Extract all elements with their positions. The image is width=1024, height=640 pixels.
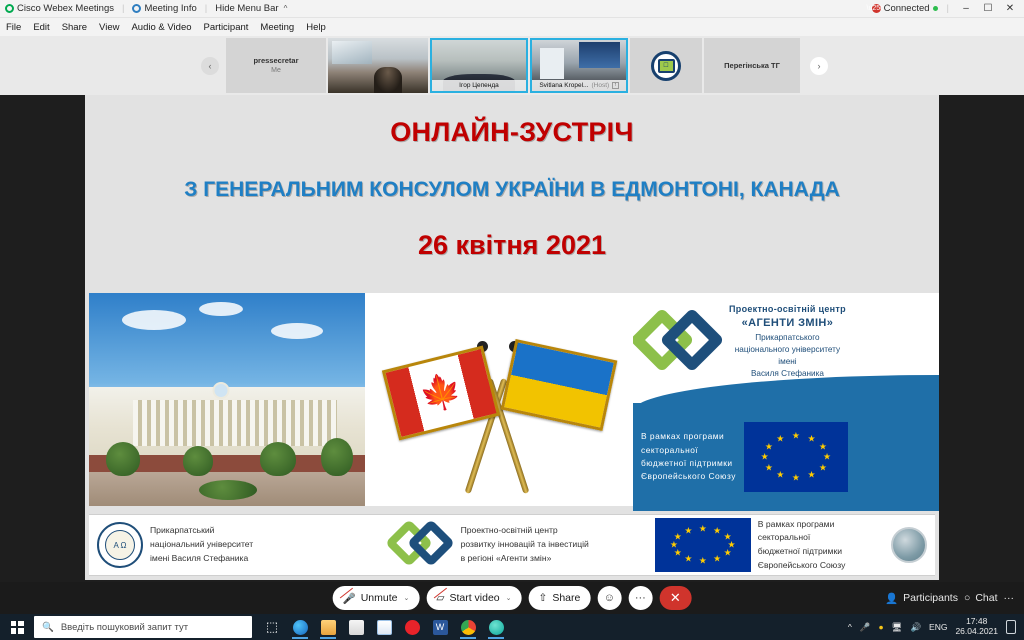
eu-flag-icon: ★★★★★★★★★★★★: [655, 518, 751, 572]
participant-name-bar: Ігор Цепенда: [432, 80, 526, 91]
slide-title-line-1: ОНЛАЙН-ЗУСТРІЧ: [85, 117, 939, 148]
action-center-icon[interactable]: [1006, 620, 1016, 634]
volume-icon[interactable]: 🔊: [910, 622, 921, 633]
ukraine-flag-icon: [501, 339, 618, 431]
participant-name: pressecretar: [253, 55, 298, 66]
menu-item-participant[interactable]: Participant: [204, 22, 249, 33]
eu-support-band: В рамках програми секторальної бюджетної…: [633, 403, 939, 511]
eu-star-icon: ★: [776, 471, 784, 480]
slide-media-row: 🍁 Проектно-освітній центр «АГЕНТИ ЗМІН»: [85, 293, 939, 511]
eu-star-icon: ★: [807, 434, 815, 443]
word-icon[interactable]: W: [428, 615, 452, 639]
close-button[interactable]: ✕: [1002, 3, 1018, 14]
chevron-down-icon[interactable]: ⌄: [506, 594, 512, 602]
participant-name: Svitlana Kropel...: [539, 82, 588, 89]
share-icon: ⇧: [539, 592, 548, 604]
participant-name: Ігор Цепенда: [459, 82, 499, 89]
camera-off-icon: ▱: [436, 592, 444, 604]
eu-star-icon: ★: [670, 541, 678, 550]
ac-line-4: національного університету: [729, 344, 846, 356]
footer-agents-center: Проектно-освітній центр розвитку інновац…: [384, 522, 647, 568]
avatar: ☐: [651, 51, 681, 81]
meeting-control-bar: 🎤 Unmute ⌄ ▱ Start video ⌄ ⇧ Share ☺ ···…: [0, 582, 1024, 614]
ac-foot-line-1: Проектно-освітній центр: [461, 524, 589, 538]
uni-line-1: Прикарпатський: [150, 524, 253, 538]
panel-more-button[interactable]: ···: [1004, 592, 1015, 604]
clock-date: 26.04.2021: [955, 627, 998, 637]
participant-tile-pressecretar[interactable]: pressecretar Me: [226, 38, 326, 93]
ac-line-5: імені: [729, 356, 846, 368]
mail-icon[interactable]: [372, 615, 396, 639]
opera-icon[interactable]: [400, 615, 424, 639]
participant-self-label: Me: [271, 66, 281, 77]
tile-name-block: pressecretar Me: [226, 38, 326, 93]
microsoft-store-icon[interactable]: [344, 615, 368, 639]
eu-star-icon: ★: [765, 463, 773, 472]
divider: |: [122, 3, 124, 14]
maple-leaf-icon: 🍁: [416, 371, 465, 414]
participant-name-bar: Svitlana Kropel... (Host) ↑: [532, 80, 626, 91]
start-video-button[interactable]: ▱ Start video ⌄: [426, 586, 521, 610]
file-explorer-icon[interactable]: [316, 615, 340, 639]
footer-eu-support: ★★★★★★★★★★★★ В рамках програми сектораль…: [647, 518, 935, 573]
university-building-photo: [89, 293, 365, 506]
slide-title-block: ОНЛАЙН-ЗУСТРІЧ З ГЕНЕРАЛЬНИМ КОНСУЛОМ УК…: [85, 95, 939, 261]
connected-label: Connected: [884, 3, 930, 14]
participants-button[interactable]: 👤 Participants: [885, 592, 958, 605]
share-button[interactable]: ⇧ Share: [529, 586, 591, 610]
info-icon: [132, 4, 141, 13]
chrome-icon[interactable]: [456, 615, 480, 639]
eu-star-icon: ★: [713, 555, 721, 564]
eu-line-2: секторальної: [641, 444, 736, 457]
eu-flag-icon: ★★★★★★★★★★★★: [744, 422, 848, 492]
slide-footer-strip: A Ω Прикарпатський національний універси…: [89, 514, 935, 576]
canada-ukraine-flags-image: 🍁: [365, 293, 633, 506]
agents-of-change-panel: Проектно-освітній центр «АГЕНТИ ЗМІН» Пр…: [633, 293, 939, 511]
eu-star-icon: ★: [819, 463, 827, 472]
microphone-muted-icon: 🎤: [343, 592, 356, 605]
clock[interactable]: 17:48 26.04.2021: [955, 617, 998, 637]
windows-taskbar: 🔍 Введіть пошуковий запит тут ⬚: [0, 614, 1024, 640]
start-button[interactable]: [0, 614, 34, 640]
host-badge: (Host): [591, 82, 609, 89]
participants-icon: 👤: [885, 592, 898, 605]
reactions-button[interactable]: ☺: [597, 586, 621, 610]
network-icon[interactable]: 🖥: [892, 622, 903, 633]
leave-meeting-button[interactable]: ✕: [659, 586, 691, 610]
webex-logo-icon: [5, 4, 14, 13]
window-title-bar: Cisco Webex Meetings | Meeting Info | Hi…: [0, 0, 1024, 18]
ac-line-1: Проектно-освітній центр: [729, 303, 846, 316]
eu-star-icon: ★: [699, 524, 707, 533]
eu-foot-line-1: В рамках програми секторальної: [758, 518, 884, 546]
meeting-info-button[interactable]: Meeting Info: [132, 3, 196, 14]
filmstrip-prev-button[interactable]: ‹: [201, 57, 219, 75]
participant-tile-perehinska-tg[interactable]: Перегінська ТГ: [704, 38, 800, 93]
eu-star-icon: ★: [684, 555, 692, 564]
eu-line-4: Європейського Союзу: [641, 470, 736, 483]
ac-foot-line-2: розвитку інновацій та інвестицій: [461, 538, 589, 552]
ac-line-2: «АГЕНТИ ЗМІН»: [729, 316, 846, 332]
slide-title-line-3: 26 квітня 2021: [85, 230, 939, 261]
start-video-label: Start video: [449, 592, 499, 604]
eu-star-icon: ★: [713, 526, 721, 535]
eu-line-3: бюджетної підтримки: [641, 457, 736, 470]
menu-item-audio-video[interactable]: Audio & Video: [131, 22, 191, 33]
maximize-button[interactable]: ☐: [980, 3, 996, 14]
tile-name-block: Перегінська ТГ: [704, 38, 800, 93]
agents-of-change-logo-icon: [392, 522, 454, 568]
eu-star-icon: ★: [792, 474, 800, 483]
canada-flag-icon: 🍁: [382, 345, 500, 440]
share-label: Share: [552, 592, 580, 604]
webex-icon[interactable]: [484, 615, 508, 639]
eu-star-icon: ★: [765, 442, 773, 451]
eu-support-footer-text: В рамках програми секторальної бюджетної…: [758, 518, 884, 573]
unmute-label: Unmute: [361, 592, 398, 604]
antivirus-icon[interactable]: ●: [879, 622, 884, 632]
participant-filmstrip: ‹ pressecretar Me Ігор Цепенда Svitlana …: [0, 36, 1024, 95]
divider: |: [947, 3, 949, 14]
partner-globe-icon: [891, 527, 927, 563]
chat-bubble-icon: ○: [964, 592, 970, 604]
taskbar-search-input[interactable]: 🔍 Введіть пошуковий запит тут: [34, 616, 252, 638]
tray-expand-icon[interactable]: ^: [848, 622, 852, 632]
participant-tile-room[interactable]: [328, 38, 428, 93]
divider: |: [205, 3, 207, 14]
menu-item-file[interactable]: File: [6, 22, 21, 33]
video-thumbnail: [328, 38, 428, 93]
microphone-icon[interactable]: 🎤: [860, 622, 871, 633]
webex-meeting-window: Cisco Webex Meetings | Meeting Info | Hi…: [0, 0, 1024, 640]
eu-star-icon: ★: [761, 453, 769, 462]
university-text: Прикарпатський національний університет …: [150, 524, 253, 565]
participants-label: Participants: [903, 592, 958, 604]
participant-tile-svitlana-kropelnytska[interactable]: Svitlana Kropel... (Host) ↑: [530, 38, 628, 93]
app-title-label: Cisco Webex Meetings: [17, 3, 114, 14]
chat-button[interactable]: ○ Chat: [964, 592, 998, 604]
network-icon: \u25cf: [872, 4, 881, 13]
avatar-glyph-icon: ☐: [658, 59, 675, 73]
system-tray: ^ 🎤 ● 🖥 🔊 ENG 17:48 26.04.2021: [848, 617, 1024, 637]
taskbar-app-icons: ⬚ W: [260, 615, 508, 639]
more-options-button[interactable]: ···: [628, 586, 652, 610]
participant-tile-avatar[interactable]: ☐: [630, 38, 702, 93]
menu-bar: File Edit Share View Audio & Video Parti…: [0, 18, 1024, 36]
filmstrip-next-button[interactable]: ›: [810, 57, 828, 75]
unmute-button[interactable]: 🎤 Unmute ⌄: [333, 586, 420, 610]
search-icon: 🔍: [42, 622, 54, 633]
status-dot-icon: [933, 6, 938, 11]
edge-icon[interactable]: [288, 615, 312, 639]
app-title: Cisco Webex Meetings: [5, 3, 114, 14]
eu-star-icon: ★: [823, 453, 831, 462]
eu-star-icon: ★: [776, 434, 784, 443]
menu-item-share[interactable]: Share: [62, 22, 87, 33]
uni-line-3: імені Василя Стефаника: [150, 552, 253, 566]
slide-title-line-2: З ГЕНЕРАЛЬНИМ КОНСУЛОМ УКРАЇНИ В ЕДМОНТО…: [85, 178, 939, 202]
eu-star-icon: ★: [684, 526, 692, 535]
windows-logo-icon: [11, 621, 24, 634]
agents-of-change-text: Проектно-освітній центр «АГЕНТИ ЗМІН» Пр…: [729, 303, 846, 380]
connection-status: \u25cf Connected: [872, 3, 938, 14]
eu-star-icon: ★: [724, 549, 732, 558]
ac-foot-line-3: в регіоні «Агенти змін»: [461, 552, 589, 566]
search-placeholder: Введіть пошуковий запит тут: [61, 622, 188, 633]
eu-star-icon: ★: [674, 549, 682, 558]
eu-star-icon: ★: [674, 532, 682, 541]
eu-star-icon: ★: [807, 471, 815, 480]
agents-of-change-logo-icon: [639, 312, 721, 370]
chevron-down-icon[interactable]: ⌄: [403, 594, 409, 602]
uni-line-2: національний університет: [150, 538, 253, 552]
eu-star-icon: ★: [819, 442, 827, 451]
participant-name: Перегінська ТГ: [724, 60, 780, 71]
participant-tile-ihor-tsependa[interactable]: Ігор Цепенда: [430, 38, 528, 93]
eu-star-icon: ★: [699, 557, 707, 566]
eu-foot-line-3: Європейського Союзу: [758, 559, 884, 573]
eu-line-1: В рамках програми: [641, 430, 736, 443]
meeting-stage: ОНЛАЙН-ЗУСТРІЧ З ГЕНЕРАЛЬНИМ КОНСУЛОМ УК…: [0, 95, 1024, 582]
minimize-button[interactable]: –: [958, 3, 974, 14]
chat-label: Chat: [975, 592, 997, 604]
menu-item-meeting[interactable]: Meeting: [260, 22, 294, 33]
shared-presentation-slide[interactable]: ОНЛАЙН-ЗУСТРІЧ З ГЕНЕРАЛЬНИМ КОНСУЛОМ УК…: [85, 95, 939, 580]
ac-line-3: Прикарпатського: [729, 332, 846, 344]
chevron-up-icon: ^: [284, 4, 288, 13]
task-view-icon[interactable]: ⬚: [260, 615, 284, 639]
meeting-info-label: Meeting Info: [144, 3, 196, 14]
seal-letters: A Ω: [105, 530, 135, 560]
pin-icon[interactable]: ↑: [612, 82, 619, 89]
eu-support-text: В рамках програми секторальної бюджетної…: [641, 430, 736, 484]
agents-center-text: Проектно-освітній центр розвитку інновац…: [461, 524, 589, 565]
hide-menu-bar-button[interactable]: Hide Menu Bar ^: [215, 3, 287, 14]
hide-menu-bar-label: Hide Menu Bar: [215, 3, 278, 14]
eu-star-icon: ★: [792, 432, 800, 441]
eu-foot-line-2: бюджетної підтримки: [758, 545, 884, 559]
menu-item-view[interactable]: View: [99, 22, 119, 33]
university-seal-icon: A Ω: [97, 522, 143, 568]
menu-item-edit[interactable]: Edit: [33, 22, 49, 33]
footer-university: A Ω Прикарпатський національний універси…: [89, 522, 384, 568]
language-indicator[interactable]: ENG: [929, 622, 947, 632]
menu-item-help[interactable]: Help: [306, 22, 326, 33]
